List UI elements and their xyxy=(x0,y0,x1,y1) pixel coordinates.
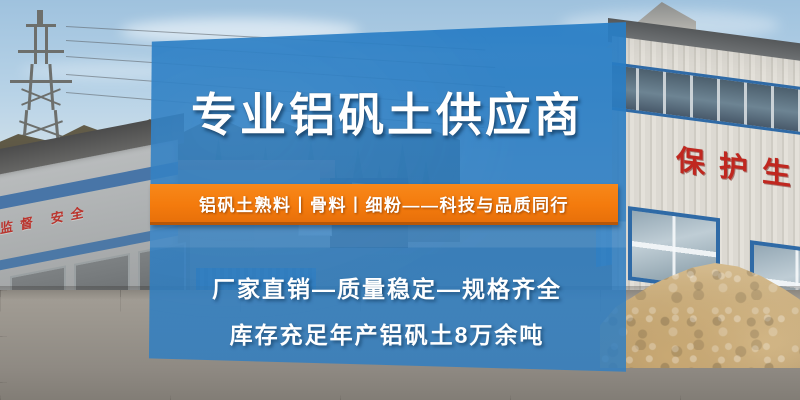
tagline-primary: 厂家直销—质量稳定—规格齐全 xyxy=(148,270,626,304)
promotional-banner: 监督 安全 保护生态 xyxy=(0,0,800,400)
tagline-secondary: 库存充足年产铝矾土8万余吨 xyxy=(148,316,626,350)
clerestory-window-strip xyxy=(612,62,800,140)
orange-ribbon: 铝矾土熟料丨骨料丨细粉——科技与品质同行 xyxy=(150,184,618,225)
headline: 专业铝矾土供应商 xyxy=(148,90,626,141)
banner-content: 专业铝矾土供应商 铝矾土熟料丨骨料丨细粉——科技与品质同行 厂家直销—质量稳定—… xyxy=(148,18,626,388)
ribbon-text: 铝矾土熟料丨骨料丨细粉——科技与品质同行 xyxy=(199,191,569,216)
